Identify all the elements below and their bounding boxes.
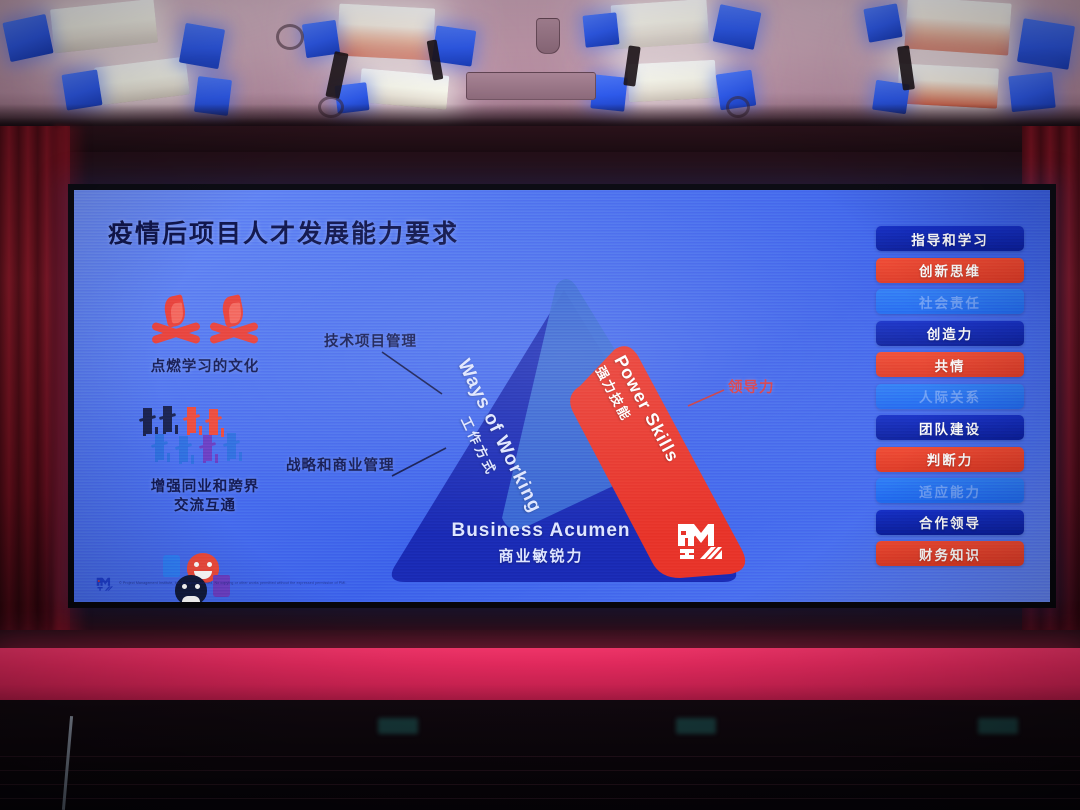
badge-9[interactable]: 合作领导 [876, 510, 1024, 535]
stage-step [0, 770, 1080, 771]
presentation-photo: 疫情后项目人才发展能力要求 [0, 0, 1080, 810]
stage-light [337, 4, 436, 61]
stage-step [0, 784, 1080, 785]
stage-step [0, 756, 1080, 757]
floor-light [378, 718, 418, 734]
competency-badge-list: 指导和学习 创新思维 社会责任 创造力 共情 人际关系 团队建设 判断力 适应能… [876, 226, 1024, 566]
pmi-logo [676, 522, 722, 560]
auditorium-house [0, 700, 1080, 810]
stage-front-edge [0, 648, 1080, 700]
blue-light-panel [1017, 18, 1075, 70]
badge-3[interactable]: 创造力 [876, 321, 1024, 346]
badge-5[interactable]: 人际关系 [876, 384, 1024, 409]
ceiling-vent [466, 72, 596, 100]
blue-light-panel [863, 3, 902, 42]
slide-footer: © Project Management Institute, Inc. All… [96, 576, 347, 592]
badge-1[interactable]: 创新思维 [876, 258, 1024, 283]
stage-light [627, 60, 717, 103]
badge-7[interactable]: 判断力 [876, 447, 1024, 472]
pmi-talent-triangle: Ways of Working 工作方式 Power Skills 强力技能 B… [360, 264, 780, 586]
stage-step [0, 798, 1080, 799]
badge-8[interactable]: 适应能力 [876, 478, 1024, 503]
blue-light-panel [179, 23, 225, 69]
pmi-logo-small [96, 576, 113, 592]
ceiling-speaker [536, 18, 560, 54]
floor-light [676, 718, 716, 734]
blue-light-panel [582, 12, 619, 47]
badge-10[interactable]: 财务知识 [876, 541, 1024, 566]
ceiling-fixture-ring [276, 24, 304, 50]
badge-2[interactable]: 社会责任 [876, 289, 1024, 314]
badge-4[interactable]: 共情 [876, 352, 1024, 377]
copyright-text: © Project Management Institute, Inc. All… [119, 581, 347, 586]
badge-0[interactable]: 指导和学习 [876, 226, 1024, 251]
floor-light [978, 718, 1018, 734]
led-screen: 疫情后项目人才发展能力要求 [74, 190, 1050, 602]
stage-front-shadow [0, 630, 1080, 650]
stage-light [904, 0, 1011, 56]
slide: 疫情后项目人才发展能力要求 [74, 190, 1050, 602]
led-screen-bezel: 疫情后项目人才发展能力要求 [68, 184, 1056, 608]
badge-6[interactable]: 团队建设 [876, 415, 1024, 440]
stage-light [611, 0, 710, 49]
